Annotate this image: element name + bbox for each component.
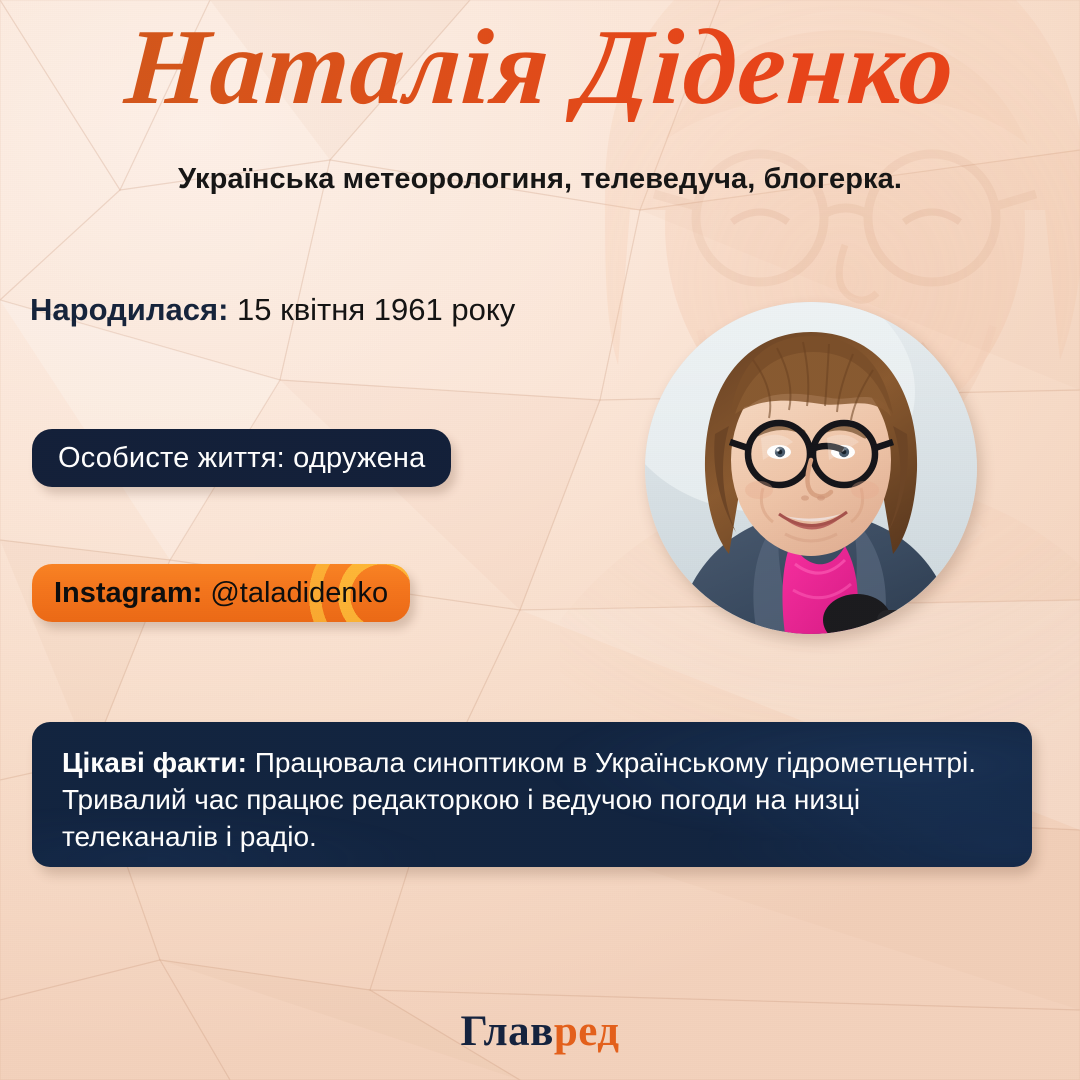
interesting-facts-panel: Цікаві факти: Працювала синоптиком в Укр… bbox=[32, 722, 1032, 867]
page-subtitle: Українська метеорологиня, телеведуча, бл… bbox=[0, 163, 1080, 196]
logo-part-glav: Глав bbox=[460, 1008, 553, 1055]
personal-life-badge: Особисте життя: одружена bbox=[32, 429, 451, 487]
facts-label: Цікаві факти: bbox=[62, 747, 247, 778]
personal-life-label: Особисте життя: одружена bbox=[58, 442, 425, 475]
page-title: Наталія Діденко bbox=[0, 14, 1080, 122]
brand-logo[interactable]: Главред bbox=[0, 1007, 1080, 1056]
birth-date-value: 15 квітня 1961 року bbox=[228, 292, 515, 327]
birth-date-line: Народилася: 15 квітня 1961 року bbox=[30, 292, 515, 328]
facts-text-group: Цікаві факти: Працювала синоптиком в Укр… bbox=[32, 722, 1032, 856]
instagram-label-group: Instagram: @taladidenko bbox=[54, 577, 388, 610]
instagram-handle: @taladidenko bbox=[202, 577, 388, 609]
portrait-photo bbox=[645, 302, 977, 634]
logo-part-red: ред bbox=[554, 1008, 620, 1055]
instagram-badge[interactable]: Instagram: @taladidenko bbox=[32, 564, 410, 622]
birth-date-label: Народилася: bbox=[30, 292, 228, 327]
instagram-label: Instagram: bbox=[54, 577, 202, 609]
infographic-card: Наталія Діденко Українська метеорологиня… bbox=[0, 0, 1080, 1080]
